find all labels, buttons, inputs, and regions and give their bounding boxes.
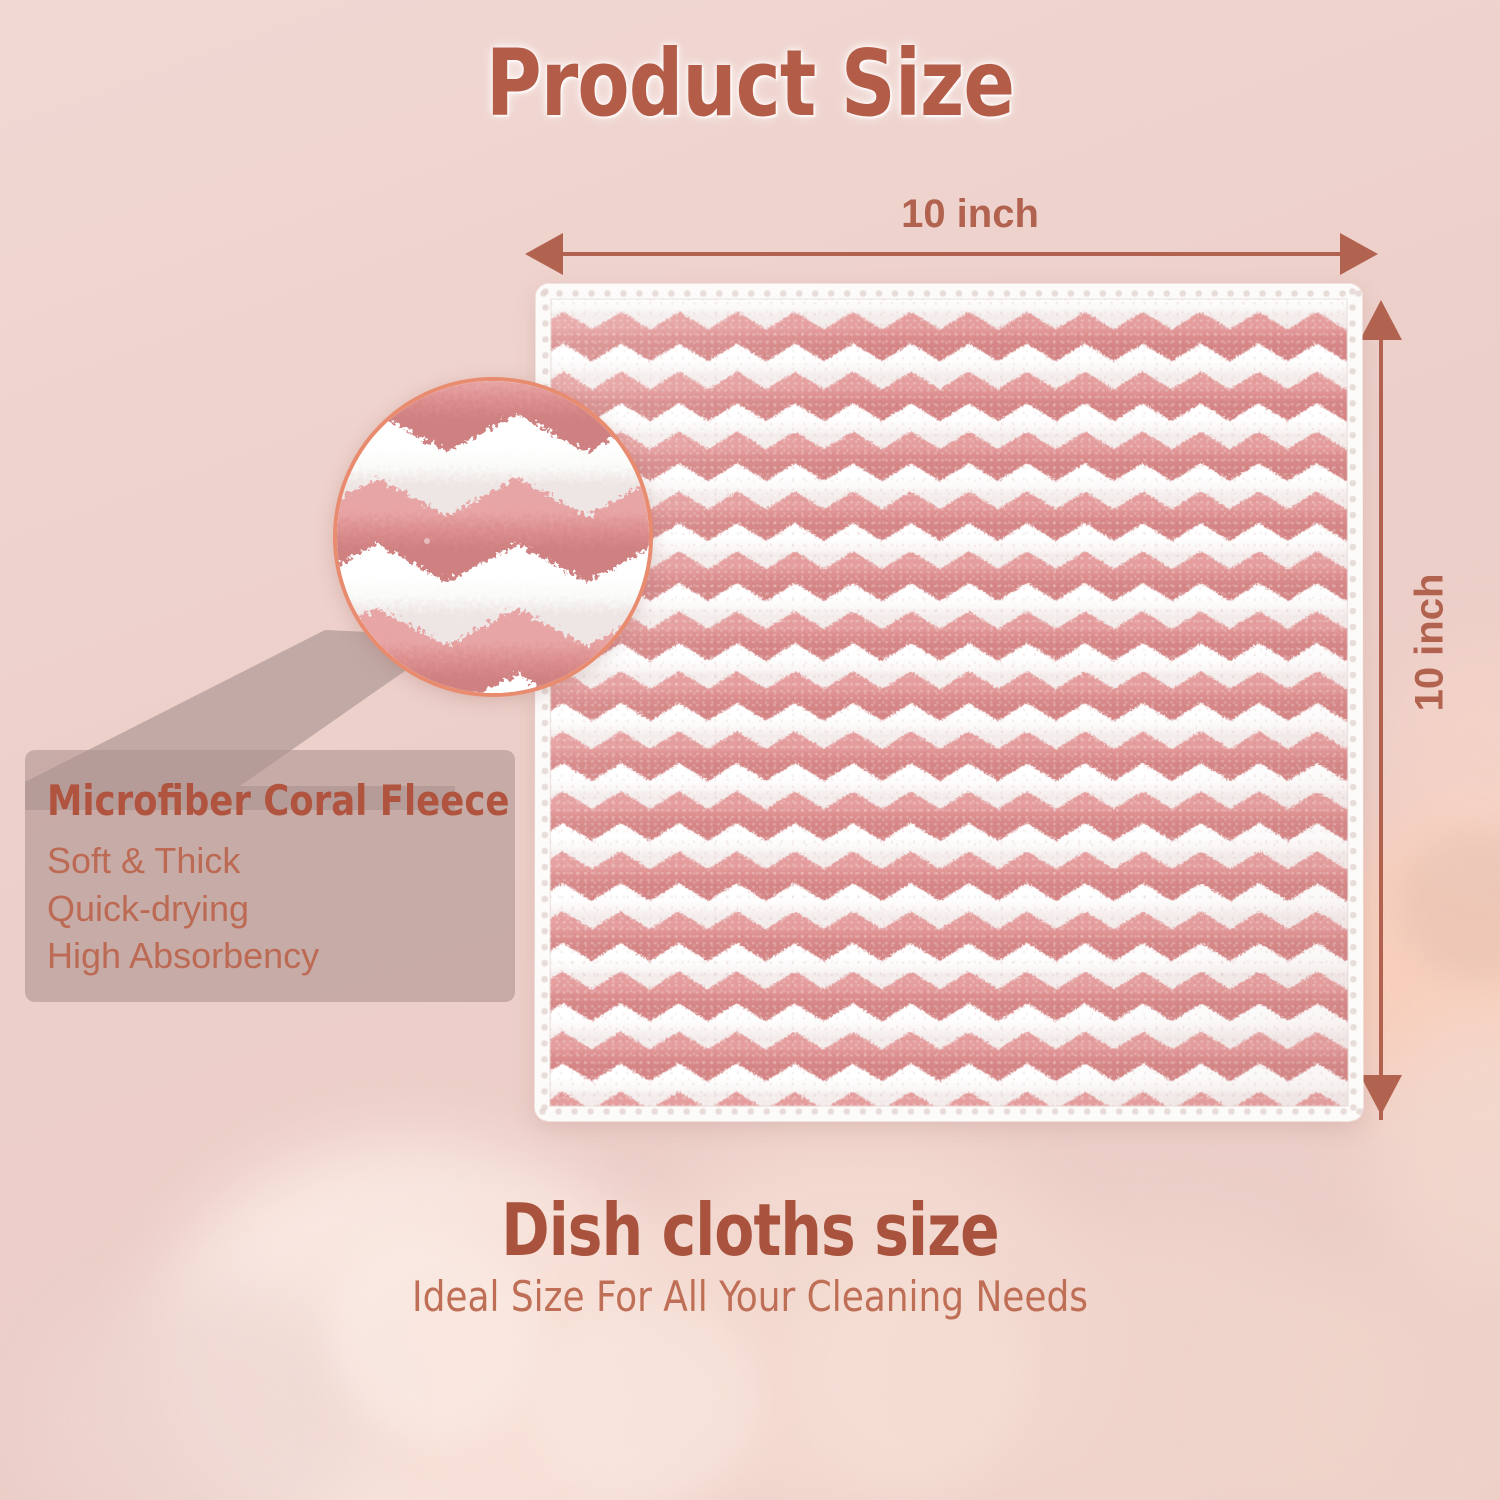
width-dimension-line bbox=[538, 252, 1372, 256]
feature-callout-box: Microfiber Coral Fleece Soft & Thick Qui… bbox=[25, 750, 515, 1002]
height-dimension-label: 10 inch bbox=[1408, 513, 1453, 773]
height-dimension-line bbox=[1379, 320, 1383, 1120]
scallop-stitch-right bbox=[1344, 284, 1361, 1122]
page-title: Product Size bbox=[60, 30, 1440, 137]
arrow-right-icon bbox=[1340, 233, 1378, 275]
infographic-canvas: Product Size 10 inch 10 inch bbox=[0, 0, 1500, 1500]
footer-title: Dish cloths size bbox=[75, 1188, 1425, 1272]
arrow-left-icon bbox=[525, 233, 563, 275]
product-image bbox=[535, 283, 1363, 1121]
arrow-down-icon bbox=[1360, 1075, 1402, 1115]
dish-cloth bbox=[534, 284, 1363, 1122]
footer-subtitle: Ideal Size For All Your Cleaning Needs bbox=[38, 1272, 1463, 1321]
scallop-stitch-bottom bbox=[534, 1104, 1363, 1120]
feature-bullet-high-absorbency: High Absorbency bbox=[47, 932, 515, 980]
background-pom-blur bbox=[530, 1300, 760, 1500]
chevron-texture bbox=[534, 284, 1363, 1122]
feature-callout-heading: Microfiber Coral Fleece bbox=[47, 776, 487, 825]
scallop-stitch-top bbox=[536, 286, 1363, 302]
feature-bullet-quick-drying: Quick-drying bbox=[47, 885, 515, 933]
closeup-chevron-texture bbox=[333, 377, 653, 697]
feature-bullet-soft-thick: Soft & Thick bbox=[47, 837, 515, 885]
fabric-closeup-magnifier bbox=[333, 377, 653, 697]
arrow-up-icon bbox=[1360, 300, 1402, 340]
width-dimension-label: 10 inch bbox=[760, 192, 1180, 237]
